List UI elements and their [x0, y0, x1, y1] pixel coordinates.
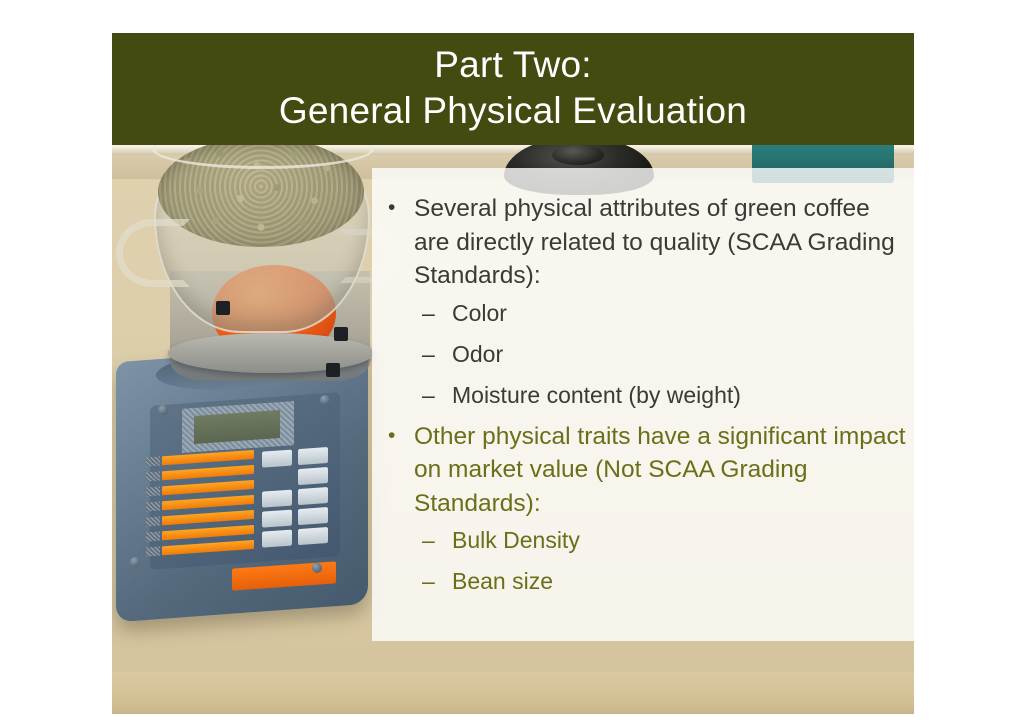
slide-title-line-2: General Physical Evaluation — [112, 88, 914, 134]
bowl-handle-left — [116, 219, 190, 287]
sub-bullet-1-3: Moisture content (by weight) — [380, 375, 909, 416]
panel-screw-tl — [158, 405, 168, 415]
bullet-item-2: Other physical traits have a significant… — [380, 420, 909, 521]
bowl-clip-right — [334, 327, 348, 341]
panel-screw-br — [312, 563, 322, 573]
slide-body-panel: Several physical attributes of green cof… — [372, 168, 914, 641]
sub-bullet-2-2: Bean size — [380, 561, 909, 602]
sub-bullet-list-1: Color Odor Moisture content (by weight) — [380, 293, 909, 416]
slide: Part Two: General Physical Evaluation Se… — [112, 33, 914, 714]
slide-title-bar: Part Two: General Physical Evaluation — [112, 33, 914, 145]
sub-bullet-list-2: Bulk Density Bean size — [380, 520, 909, 602]
panel-screw-tr — [320, 395, 330, 405]
orange-button-labels — [162, 450, 258, 561]
bowl-clip-left — [216, 301, 230, 315]
slide-title-line-1: Part Two: — [112, 42, 914, 88]
lcd-display — [194, 410, 280, 444]
sub-bullet-2-1: Bulk Density — [380, 520, 909, 561]
bullet-list: Several physical attributes of green cof… — [380, 192, 909, 602]
meter-keypad — [262, 446, 338, 563]
table-front-edge — [112, 672, 914, 714]
bullet-item-1: Several physical attributes of green cof… — [380, 192, 909, 293]
panel-screw-bl — [130, 557, 140, 567]
sub-bullet-1-1: Color — [380, 293, 909, 334]
pan-lid-knob — [552, 145, 604, 165]
sub-bullet-1-2: Odor — [380, 334, 909, 375]
bowl-clip-lower — [326, 363, 340, 377]
